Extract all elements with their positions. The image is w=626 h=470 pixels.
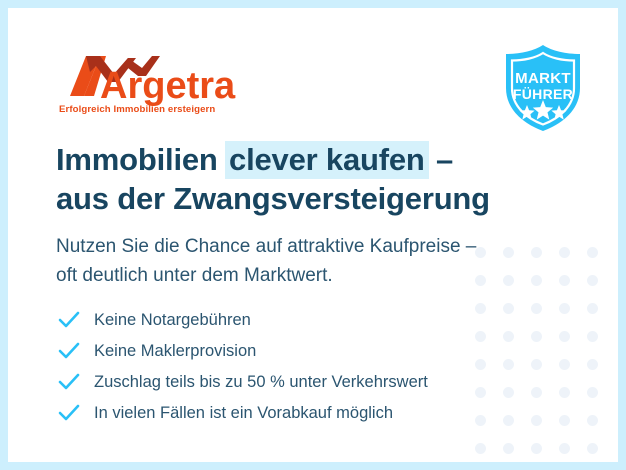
- decorative-dot: [587, 443, 598, 454]
- benefit-label: Zuschlag teils bis zu 50 % unter Verkehr…: [94, 372, 428, 392]
- decorative-dot: [587, 275, 598, 286]
- decorative-dot: [475, 331, 486, 342]
- benefits-list: Keine Notargebühren Keine Maklerprovisio…: [58, 304, 428, 428]
- list-item: Zuschlag teils bis zu 50 % unter Verkehr…: [58, 366, 428, 397]
- decorative-dot: [531, 247, 542, 258]
- decorative-dot: [503, 387, 514, 398]
- decorative-dot: [475, 303, 486, 314]
- decorative-dot: [475, 387, 486, 398]
- headline-line-2: aus der Zwangsversteigerung: [56, 179, 490, 218]
- decorative-dot: [503, 415, 514, 426]
- benefit-label: Keine Notargebühren: [94, 310, 251, 330]
- decorative-dot: [503, 359, 514, 370]
- decorative-dot: [531, 387, 542, 398]
- logo-tagline: Erfolgreich Immobilien ersteigern: [59, 104, 215, 115]
- decorative-dot: [531, 275, 542, 286]
- decorative-dot: [559, 359, 570, 370]
- headline-highlight: clever kaufen: [225, 141, 429, 179]
- benefit-label: Keine Maklerprovision: [94, 341, 256, 361]
- list-item: In vielen Fällen ist ein Vorabkauf mögli…: [58, 397, 428, 428]
- subtitle-line-1: Nutzen Sie die Chance auf attraktive Kau…: [56, 232, 476, 261]
- subtitle: Nutzen Sie die Chance auf attraktive Kau…: [56, 232, 476, 290]
- list-item: Keine Maklerprovision: [58, 335, 428, 366]
- decorative-dot: [503, 303, 514, 314]
- banner-canvas: Argetra Erfolgreich Immobilien ersteiger…: [8, 8, 618, 462]
- decorative-dot: [531, 415, 542, 426]
- decorative-dot: [559, 247, 570, 258]
- headline-prefix: Immobilien: [56, 142, 226, 177]
- decorative-dot: [503, 443, 514, 454]
- headline-line-1: Immobilien clever kaufen –: [56, 140, 490, 179]
- decorative-dot: [475, 359, 486, 370]
- badge-line-1: MARKT: [515, 70, 571, 87]
- decorative-dot: [531, 331, 542, 342]
- check-icon: [58, 310, 80, 330]
- decorative-dot: [587, 303, 598, 314]
- argetra-logo[interactable]: Argetra Erfolgreich Immobilien ersteiger…: [56, 50, 256, 118]
- promo-banner: Argetra Erfolgreich Immobilien ersteiger…: [0, 0, 626, 470]
- decorative-dot: [559, 387, 570, 398]
- decorative-dot: [475, 415, 486, 426]
- headline-suffix: –: [428, 142, 453, 177]
- decorative-dot: [531, 359, 542, 370]
- shield-icon: MARKT FÜHRER: [494, 42, 592, 134]
- list-item: Keine Notargebühren: [58, 304, 428, 335]
- decorative-dot: [587, 331, 598, 342]
- decorative-dot: [475, 443, 486, 454]
- decorative-dot: [503, 247, 514, 258]
- subtitle-line-2: oft deutlich unter dem Marktwert.: [56, 261, 476, 290]
- decorative-dot: [587, 415, 598, 426]
- check-icon: [58, 372, 80, 392]
- decorative-dot: [531, 443, 542, 454]
- logo-wordmark: Argetra: [100, 65, 236, 107]
- decorative-dot: [503, 331, 514, 342]
- check-icon: [58, 341, 80, 361]
- benefit-label: In vielen Fällen ist ein Vorabkauf mögli…: [94, 403, 393, 423]
- check-icon: [58, 403, 80, 423]
- decorative-dot: [531, 303, 542, 314]
- page-title: Immobilien clever kaufen – aus der Zwang…: [56, 140, 490, 218]
- decorative-dot: [559, 275, 570, 286]
- decorative-dot: [559, 331, 570, 342]
- decorative-dot: [559, 415, 570, 426]
- decorative-dot: [559, 303, 570, 314]
- decorative-dot: [587, 247, 598, 258]
- decorative-dot: [503, 275, 514, 286]
- argetra-logo-icon: Argetra Erfolgreich Immobilien ersteiger…: [56, 50, 256, 118]
- decorative-dot: [587, 387, 598, 398]
- decorative-dot: [559, 443, 570, 454]
- market-leader-badge: MARKT FÜHRER: [494, 42, 592, 134]
- decorative-dot-grid: [466, 238, 606, 462]
- decorative-dot: [587, 359, 598, 370]
- badge-line-2: FÜHRER: [513, 86, 573, 102]
